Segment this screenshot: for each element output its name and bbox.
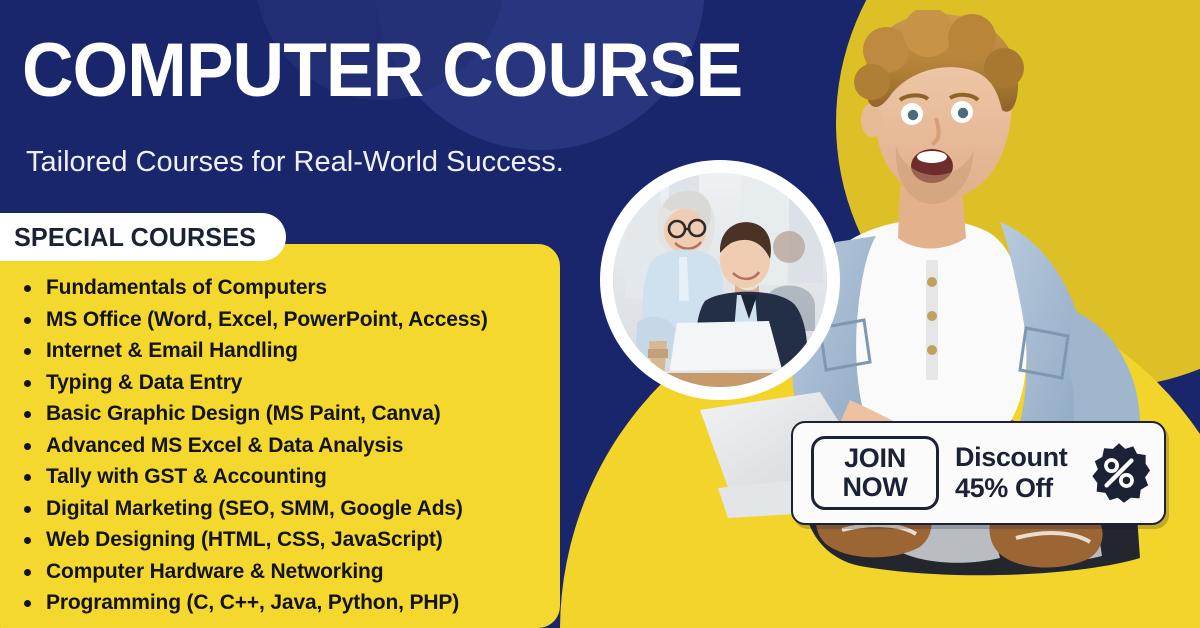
- page-title: COMPUTER COURSE: [22, 31, 742, 111]
- course-list-item: Advanced MS Excel & Data Analysis: [22, 430, 542, 462]
- discount-text: Discount 45% Off: [955, 442, 1074, 504]
- join-now-line-1: JOIN: [844, 444, 906, 473]
- course-list-item: Typing & Data Entry: [22, 367, 542, 399]
- discount-label: Discount: [955, 442, 1074, 473]
- inset-photo-ring: [600, 160, 840, 400]
- course-list-item: Internet & Email Handling: [22, 335, 542, 367]
- course-list-item: Programming (C, C++, Java, Python, PHP): [22, 587, 542, 619]
- course-list-item: Web Designing (HTML, CSS, JavaScript): [22, 524, 542, 556]
- page-subtitle: Tailored Courses for Real-World Success.: [26, 144, 564, 180]
- course-list-card: Fundamentals of Computers MS Office (Wor…: [0, 244, 560, 628]
- percent-starburst-icon: [1088, 442, 1150, 504]
- inset-photo: [613, 173, 827, 387]
- join-now-button[interactable]: JOIN NOW: [811, 436, 939, 510]
- promotional-banner: COMPUTER COURSE Tailored Courses for Rea…: [0, 0, 1200, 628]
- course-list-item: Digital Marketing (SEO, SMM, Google Ads): [22, 493, 542, 525]
- course-list-item: Computer Hardware & Networking: [22, 556, 542, 588]
- special-courses-badge: SPECIAL COURSES: [0, 213, 286, 261]
- course-list-item: Tally with GST & Accounting: [22, 461, 542, 493]
- special-courses-badge-label: SPECIAL COURSES: [14, 222, 256, 253]
- course-list: Fundamentals of Computers MS Office (Wor…: [22, 272, 542, 619]
- course-list-item: Basic Graphic Design (MS Paint, Canva): [22, 398, 542, 430]
- discount-value: 45% Off: [955, 473, 1074, 504]
- join-now-line-2: NOW: [842, 473, 907, 502]
- course-list-item: MS Office (Word, Excel, PowerPoint, Acce…: [22, 304, 542, 336]
- promo-bar: JOIN NOW Discount 45% Off: [791, 421, 1166, 525]
- course-list-item: Fundamentals of Computers: [22, 272, 542, 304]
